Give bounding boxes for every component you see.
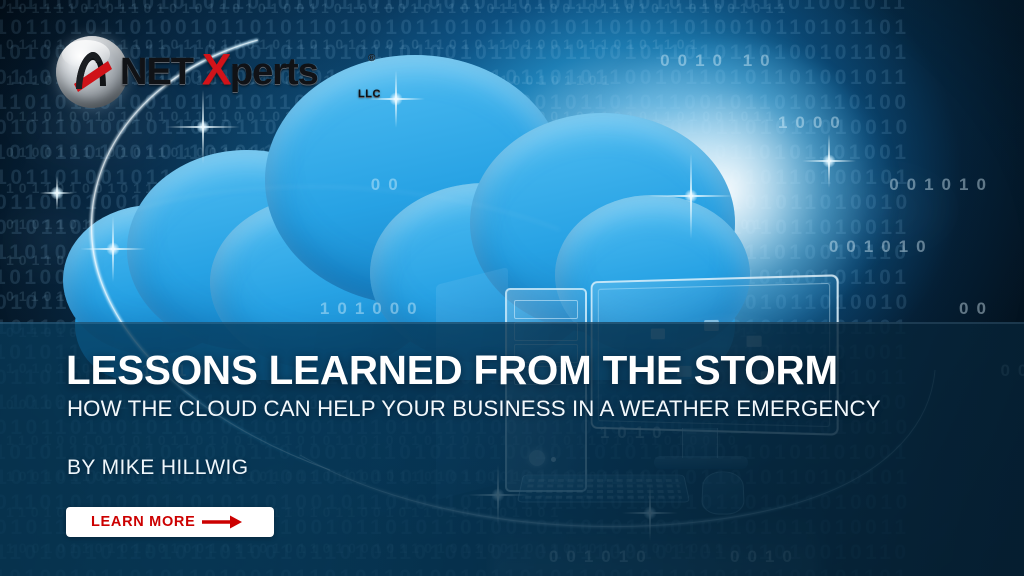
- logo-word-net: NET: [120, 51, 193, 93]
- banner-content: LESSONS LEARNED FROM THE STORM HOW THE C…: [66, 322, 966, 576]
- author-byline: BY MIKE HILLWIG: [67, 457, 248, 478]
- netxperts-wordmark: NETXperts ® LLC: [120, 48, 318, 92]
- page-subtitle: HOW THE CLOUD CAN HELP YOUR BUSINESS IN …: [67, 398, 881, 421]
- learn-more-label: LEARN MORE: [91, 515, 195, 530]
- arrow-right-icon: [201, 514, 245, 530]
- drive-bay: [514, 300, 578, 319]
- netxperts-orb-icon: [56, 36, 128, 108]
- netxperts-logo[interactable]: NETXperts ® LLC: [56, 32, 376, 114]
- registered-trademark-icon: ®: [368, 54, 375, 64]
- marketing-banner: 1011110101101010110101001101010010110101…: [0, 0, 1024, 576]
- page-title: LESSONS LEARNED FROM THE STORM: [66, 350, 838, 391]
- logo-suffix-llc: LLC: [358, 89, 381, 100]
- logo-word-x: X: [202, 45, 230, 94]
- learn-more-button[interactable]: LEARN MORE: [66, 507, 274, 537]
- logo-word-perts: perts: [230, 51, 318, 93]
